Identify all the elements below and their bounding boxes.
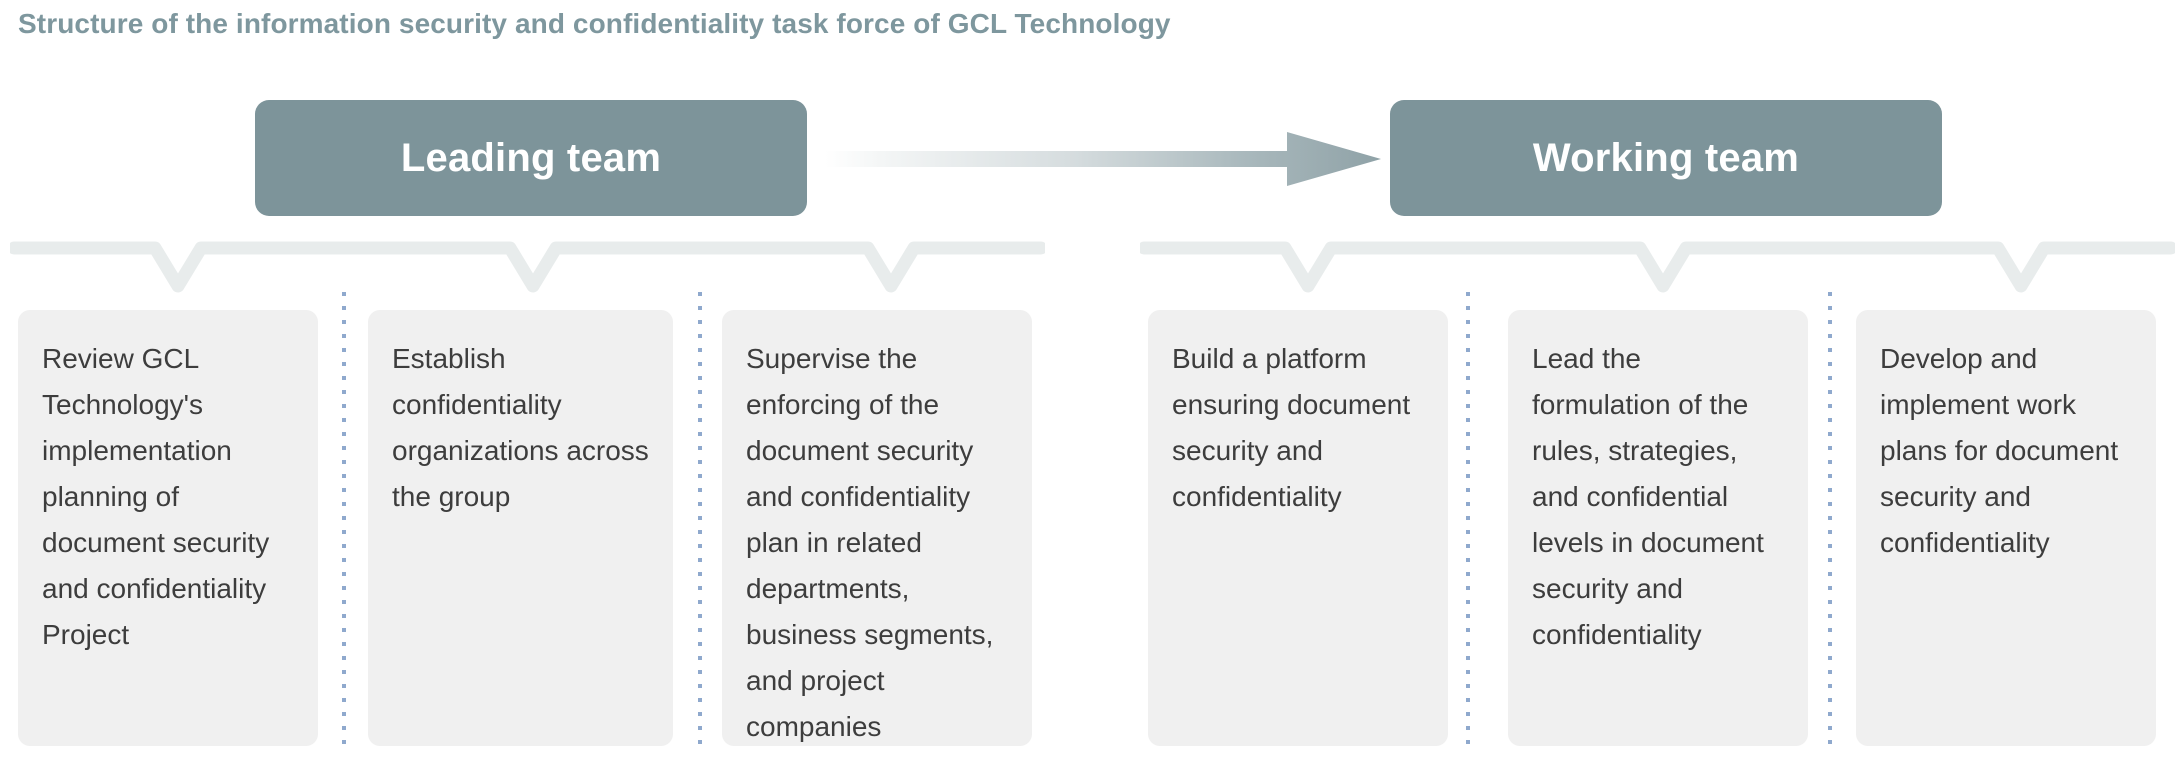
header-label-leading-team: Leading team <box>401 136 661 181</box>
card-divider-dotted <box>1466 292 1470 750</box>
content-card-text: Lead the formulation of the rules, strat… <box>1532 336 1786 658</box>
card-divider-dotted <box>342 292 346 750</box>
content-card-text: Develop and implement work plans for doc… <box>1880 336 2134 566</box>
card-divider-dotted <box>698 292 702 750</box>
bracket-connector-working-team <box>1140 238 2175 298</box>
content-card: Develop and implement work plans for doc… <box>1856 310 2156 746</box>
card-divider-dotted <box>1828 292 1832 750</box>
content-card: Build a platform ensuring document secur… <box>1148 310 1448 746</box>
header-box-working-team: Working team <box>1390 100 1942 216</box>
content-card-text: Supervise the enforcing of the document … <box>746 336 1010 750</box>
content-card-text: Review GCL Technology's implementation p… <box>42 336 296 658</box>
content-card-text: Establish confidentiality organizations … <box>392 336 651 520</box>
content-card-text: Build a platform ensuring document secur… <box>1172 336 1426 520</box>
content-card: Establish confidentiality organizations … <box>368 310 673 746</box>
right-arrow-icon <box>825 130 1385 188</box>
header-box-leading-team: Leading team <box>255 100 807 216</box>
content-card: Supervise the enforcing of the document … <box>722 310 1032 746</box>
bracket-connector-leading-team <box>10 238 1045 298</box>
page-title: Structure of the information security an… <box>18 8 1171 40</box>
content-card: Lead the formulation of the rules, strat… <box>1508 310 1808 746</box>
header-label-working-team: Working team <box>1533 136 1799 181</box>
content-card: Review GCL Technology's implementation p… <box>18 310 318 746</box>
